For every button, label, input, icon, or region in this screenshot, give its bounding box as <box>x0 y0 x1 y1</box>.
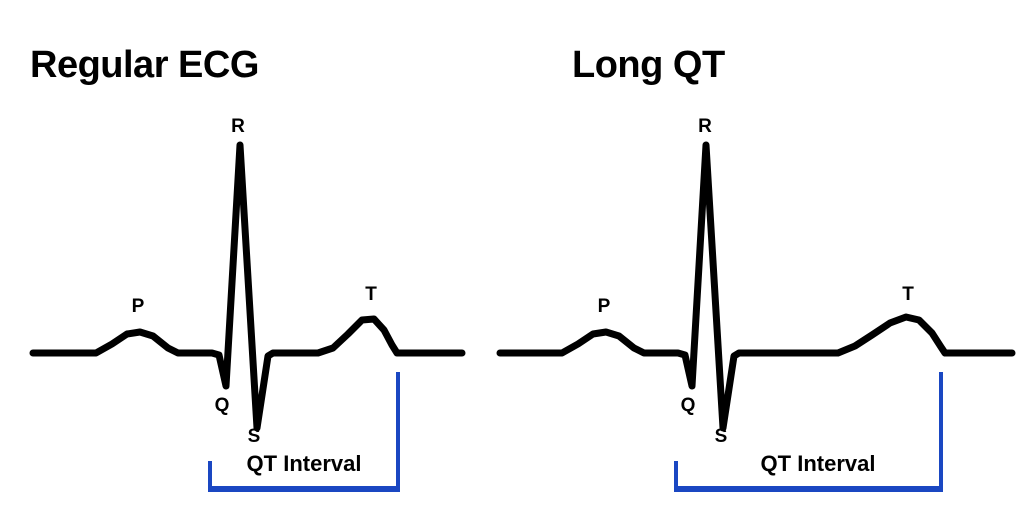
s-wave-label: S <box>715 427 728 446</box>
ecg-comparison-figure: Regular ECG Long QT P Q R S T P Q R S T … <box>0 0 1033 517</box>
p-wave-label: P <box>132 297 145 316</box>
trace-group-regular-ecg <box>33 145 462 428</box>
qt-interval-label-regular-ecg: QT Interval <box>247 453 362 475</box>
panel-title-long-qt: Long QT <box>572 46 725 84</box>
t-wave-label: T <box>365 285 377 304</box>
panel-title-regular-ecg: Regular ECG <box>30 46 259 84</box>
ecg-trace-regular-ecg <box>33 145 462 428</box>
r-wave-label: R <box>698 117 712 136</box>
ecg-trace-long-qt <box>500 145 1012 428</box>
r-wave-label: R <box>231 117 245 136</box>
trace-group-long-qt <box>500 145 1012 428</box>
q-wave-label: Q <box>681 396 696 415</box>
s-wave-label: S <box>248 427 261 446</box>
qt-interval-label-long-qt: QT Interval <box>761 453 876 475</box>
q-wave-label: Q <box>215 396 230 415</box>
t-wave-label: T <box>902 285 914 304</box>
p-wave-label: P <box>598 297 611 316</box>
